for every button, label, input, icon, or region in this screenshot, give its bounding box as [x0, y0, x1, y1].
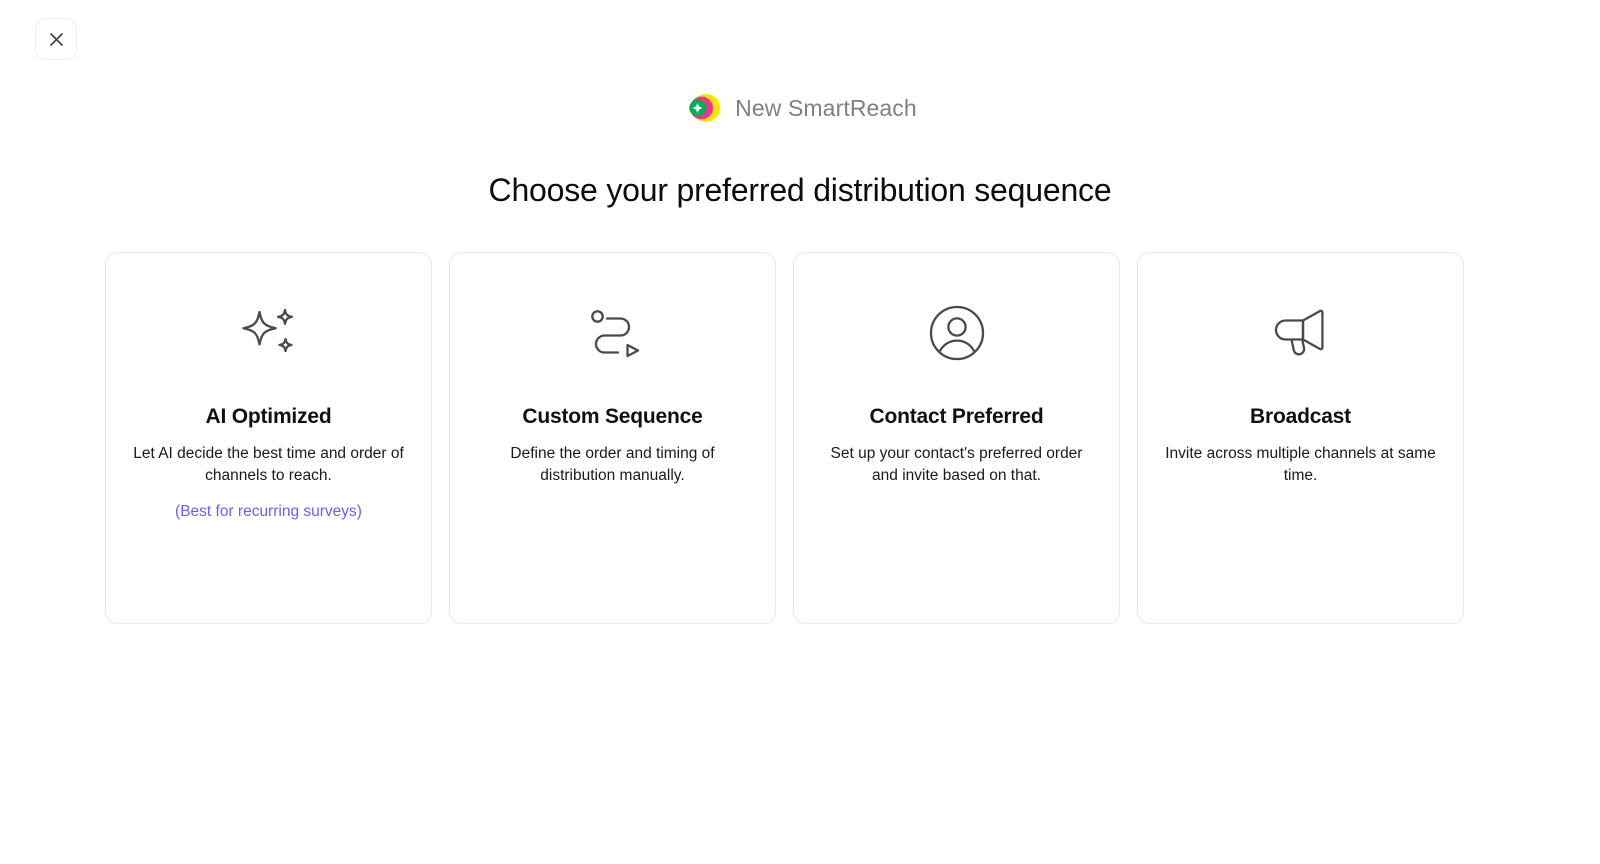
card-title: AI Optimized: [206, 405, 332, 429]
card-description: Let AI decide the best time and order of…: [130, 443, 408, 487]
option-card-custom-sequence[interactable]: Custom Sequence Define the order and tim…: [449, 252, 776, 624]
card-description: Invite across multiple channels at same …: [1162, 443, 1440, 487]
distribution-sequence-options: AI Optimized Let AI decide the best time…: [105, 252, 1465, 624]
route-icon: [577, 297, 649, 369]
smartreach-distribution-sequence-screen: New SmartReach Choose your preferred dis…: [0, 0, 1600, 864]
user-circle-icon: [921, 297, 993, 369]
megaphone-icon: [1265, 297, 1337, 369]
card-description: Define the order and timing of distribut…: [474, 443, 752, 487]
sparkles-icon: [233, 297, 305, 369]
close-button[interactable]: [35, 18, 77, 60]
brand-header: New SmartReach: [0, 88, 1600, 128]
card-note: (Best for recurring surveys): [175, 503, 362, 521]
brand-name: New SmartReach: [735, 95, 917, 122]
option-card-contact-preferred[interactable]: Contact Preferred Set up your contact's …: [793, 252, 1120, 624]
card-title: Contact Preferred: [870, 405, 1044, 429]
card-description: Set up your contact's preferred order an…: [818, 443, 1096, 487]
option-card-ai-optimized[interactable]: AI Optimized Let AI decide the best time…: [105, 252, 432, 624]
card-title: Custom Sequence: [522, 405, 702, 429]
smartreach-logo-icon: [683, 88, 723, 128]
option-card-broadcast[interactable]: Broadcast Invite across multiple channel…: [1137, 252, 1464, 624]
card-title: Broadcast: [1250, 405, 1351, 429]
page-title: Choose your preferred distribution seque…: [0, 172, 1600, 209]
close-icon: [49, 32, 64, 47]
